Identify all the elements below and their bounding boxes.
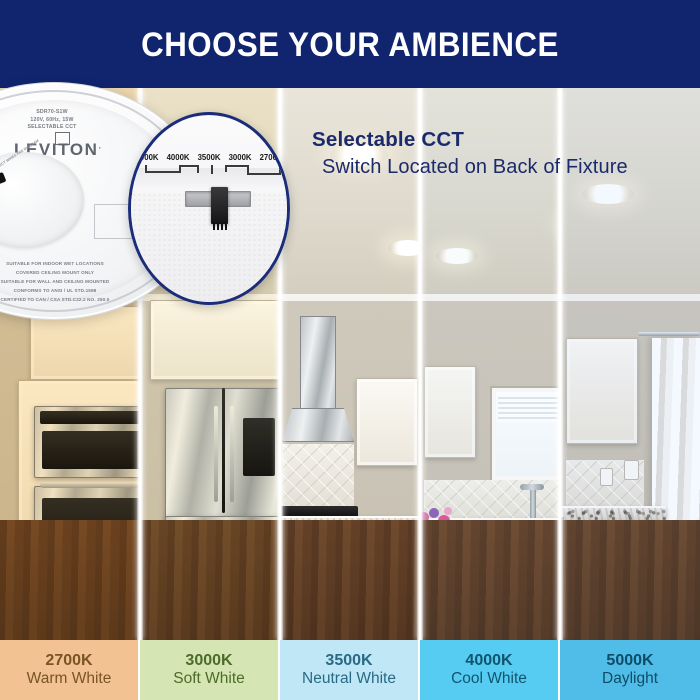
light-switch [624, 460, 639, 480]
fridge-handle-right [230, 406, 234, 502]
countertop [560, 506, 666, 520]
oven-display [40, 411, 140, 424]
upper-cabinet [566, 338, 638, 444]
product-marketing-image: CHOOSE YOUR AMBIENCE SDR70-S1W 120V, 60H… [0, 0, 700, 700]
cct-bracket [247, 173, 281, 175]
swatch-kelvin: 3000K [185, 653, 232, 670]
range-hood-canopy [282, 408, 354, 442]
ceiling [280, 88, 420, 303]
cct-label-3500k: 3500K [198, 153, 221, 162]
certification-line: SUITABLE FOR WALL AND CEILING MOUNTED [0, 278, 130, 287]
recessed-light [388, 240, 420, 256]
electrical-rating: 120V, 60Hz, 15W [0, 117, 104, 125]
cct-bracket [179, 165, 199, 167]
model-number: SDR70-S1W [0, 109, 104, 117]
wood-floor [0, 520, 140, 640]
swatch-name: Daylight [602, 670, 658, 687]
swatch-3000k[interactable]: 3000K Soft White [140, 640, 280, 700]
header-banner: CHOOSE YOUR AMBIENCE [0, 0, 700, 88]
magnifier-circle: 5000K 4000K 3500K 3000K 2700K [128, 112, 290, 305]
crown-molding [280, 294, 420, 301]
swatch-name: Soft White [173, 670, 245, 687]
callout-title: Selectable CCT [312, 128, 628, 152]
cct-selector-switch[interactable] [211, 187, 228, 224]
crown-molding [420, 294, 560, 301]
swatch-3500k[interactable]: 3500K Neutral White [280, 640, 420, 700]
swatch-5000k[interactable]: 5000K Daylight [560, 640, 700, 700]
upper-cabinet [424, 366, 476, 458]
recessed-light [582, 184, 634, 204]
wood-floor [140, 520, 280, 640]
certification-line: CONFORMS TO ANSI / UL STD.1598 [0, 287, 130, 296]
recessed-light [436, 248, 478, 264]
cct-bracket [225, 165, 249, 167]
color-temperature-legend: 2700K Warm White 3000K Soft White 3500K … [0, 640, 700, 700]
callout-subtitle: Switch Located on Back of Fixture [322, 156, 628, 179]
swatch-name: Neutral White [302, 670, 396, 687]
swatch-kelvin: 3500K [325, 653, 372, 670]
ceiling [420, 88, 560, 303]
wood-floor [420, 520, 560, 640]
selectable-cct-callout: Selectable CCT Switch Located on Back of… [312, 128, 628, 179]
swatch-kelvin: 2700K [45, 653, 92, 670]
wood-floor [560, 520, 700, 640]
cct-label-5000k: 5000K [136, 153, 159, 162]
swatch-kelvin: 4000K [465, 653, 512, 670]
fridge-handle-left [214, 406, 218, 502]
swatch-name: Cool White [451, 670, 527, 687]
certification-line: SUITABLE FOR INDOOR WET LOCATIONS [0, 260, 130, 269]
wall-outlet [600, 468, 613, 486]
page-title: CHOOSE YOUR AMBIENCE [28, 26, 672, 65]
crown-molding [560, 294, 700, 301]
cct-label-4000k: 4000K [167, 153, 190, 162]
oven-handle [40, 482, 140, 488]
cct-tick [211, 165, 213, 174]
certification-line: CERTIFIED TO CAN / CSA STD.C22.2 NO. 250… [0, 296, 130, 305]
cct-bracket [145, 171, 181, 173]
cct-tick [279, 165, 281, 174]
feature-label: SELECTABLE CCT [0, 124, 104, 132]
oven-glass-upper [42, 431, 140, 469]
upper-cabinet-right [356, 378, 418, 466]
certification-block: SUITABLE FOR INDOOR WET LOCATIONS COVERE… [0, 260, 130, 305]
cct-label-2700k: 2700K [260, 153, 283, 162]
water-dispenser [243, 418, 275, 476]
swatch-kelvin: 5000K [606, 653, 653, 670]
window-blinds [498, 394, 560, 422]
fixture-ledge [128, 165, 290, 191]
cct-tick [197, 165, 199, 173]
swatch-4000k[interactable]: 4000K Cool White [420, 640, 560, 700]
faucet-spout [520, 484, 544, 490]
curtain-rod [638, 332, 700, 336]
cct-label-3000k: 3000K [229, 153, 252, 162]
certification-line: COVERED CEILING MOUNT ONLY [0, 269, 130, 278]
tile-backsplash [282, 444, 354, 506]
wood-floor [280, 520, 420, 640]
swatch-name: Warm White [27, 670, 112, 687]
fridge-gap [222, 388, 225, 513]
leader-line [94, 204, 95, 238]
swatch-2700k[interactable]: 2700K Warm White [0, 640, 140, 700]
model-label-block: SDR70-S1W 120V, 60Hz, 15W SELECTABLE CCT [0, 109, 104, 132]
